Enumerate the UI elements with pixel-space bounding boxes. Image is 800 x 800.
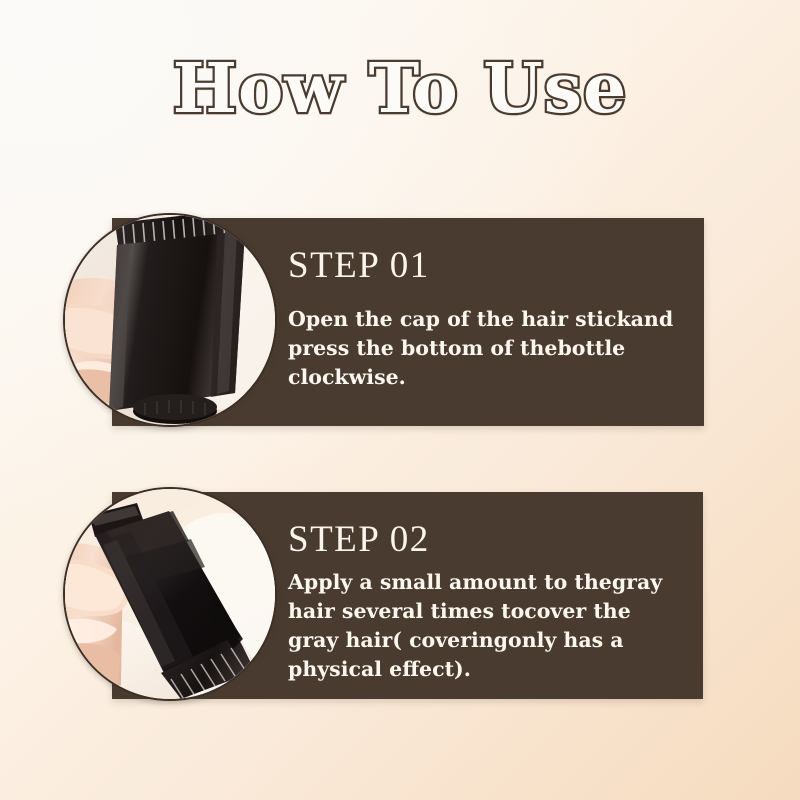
step-photo-2 [63,487,277,701]
step-body-2: Apply a small amount to thegray hair sev… [288,568,687,684]
page-title-container: How To Use [0,54,800,125]
hair-stick-angled-illustration [65,489,275,699]
hair-stick-upright-illustration [65,215,275,425]
step-photo-1 [63,213,277,427]
step-heading-1: STEP 01 [288,244,688,287]
step-text-1: STEP 01 Open the cap of the hair stickan… [288,244,688,392]
step-body-1: Open the cap of the hair stickand press … [288,305,688,392]
step-text-2: STEP 02 Apply a small amount to thegray … [288,518,687,684]
how-to-use-poster: How To Use STEP 01 Open the cap of the h… [0,0,800,800]
page-title: How To Use [173,54,628,125]
step-heading-2: STEP 02 [288,518,687,561]
